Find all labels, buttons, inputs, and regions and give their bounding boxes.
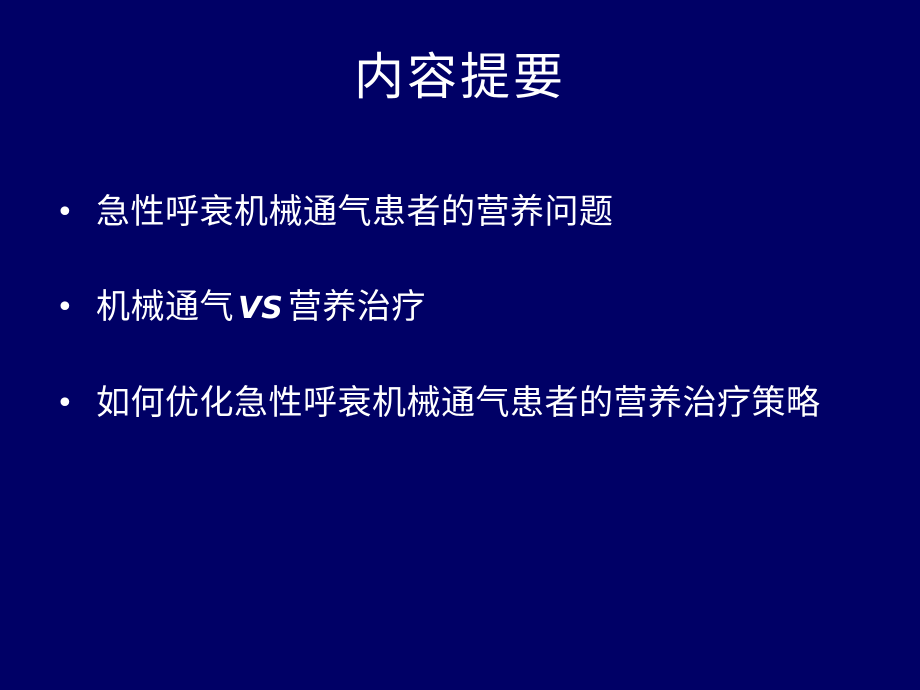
bullet-dot-icon: • <box>56 271 104 344</box>
list-item: • 机械通气VS营养治疗 <box>48 271 872 345</box>
bullet-text-1: 急性呼衰机械通气患者的营养问题 <box>96 176 872 249</box>
bullet-text-2-emphasis: VS <box>234 291 288 326</box>
list-item: • 急性呼衰机械通气患者的营养问题 <box>48 176 872 249</box>
bullet-dot-icon: • <box>56 367 104 440</box>
bullet-list: • 急性呼衰机械通气患者的营养问题 • 机械通气VS营养治疗 • 如何优化急性呼… <box>48 176 872 440</box>
slide-title: 内容提要 <box>0 44 920 110</box>
bullet-text-3: 如何优化急性呼衰机械通气患者的营养治疗策略 <box>96 367 872 440</box>
bullet-text-2-before: 机械通气 <box>96 287 234 327</box>
bullet-text-2-after: 营养治疗 <box>288 287 426 327</box>
bullet-dot-icon: • <box>56 176 104 249</box>
presentation-slide: 内容提要 • 急性呼衰机械通气患者的营养问题 • 机械通气VS营养治疗 • 如何… <box>0 0 920 690</box>
list-item: • 如何优化急性呼衰机械通气患者的营养治疗策略 <box>48 367 872 440</box>
bullet-text-2: 机械通气VS营养治疗 <box>96 271 872 345</box>
